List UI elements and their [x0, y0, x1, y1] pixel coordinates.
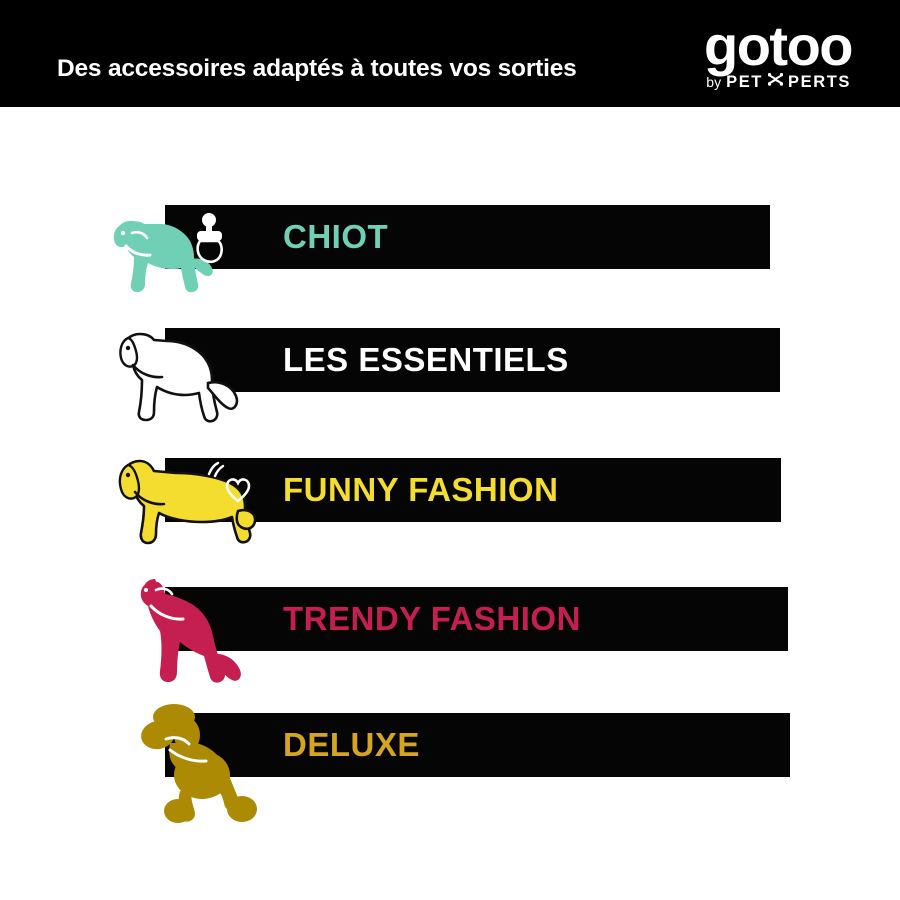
category-row-deluxe[interactable]: DELUXE Sélection premium [0, 703, 900, 833]
category-title: CHIOT [283, 218, 388, 256]
category-title: DELUXE [283, 726, 420, 764]
infographic-page: Des accessoires adaptés à toutes vos sor… [0, 0, 900, 900]
category-row-chiot[interactable]: CHIOT Pour apprendre à marcher en laisse [0, 195, 900, 305]
logo-brand-right: PERTS [788, 73, 851, 92]
header-bar: Des accessoires adaptés à toutes vos sor… [0, 0, 900, 107]
category-title: LES ESSENTIELS [283, 341, 569, 379]
gotoo-logo: gotoo by PET PERTS [662, 18, 852, 92]
category-title: TRENDY FASHION [283, 600, 581, 638]
logo-by-label: by [706, 74, 721, 90]
category-bar: LES ESSENTIELS [165, 328, 780, 392]
logo-brand-left: PET [726, 73, 763, 92]
heart-wag-icon [206, 460, 258, 508]
poodle-silhouette-icon [140, 703, 268, 828]
dog-outline-icon [118, 320, 248, 425]
tall-dog-silhouette-icon [130, 576, 245, 691]
category-row-trendy-fashion[interactable]: TRENDY FASHION Toujours à la mode [0, 577, 900, 695]
logo-tagline: by PET PERTS [706, 73, 851, 92]
pacifier-icon [188, 211, 232, 265]
category-row-funny-fashion[interactable]: FUNNY FASHION Des imprimés colorés [0, 448, 900, 563]
logo-wordmark: gotoo [704, 18, 852, 74]
category-bar: TRENDY FASHION [165, 587, 788, 651]
category-bar: CHIOT [165, 205, 770, 269]
page-title: Des accessoires adaptés à toutes vos sor… [57, 55, 577, 83]
bone-x-icon [768, 73, 783, 87]
category-row-essentiels[interactable]: LES ESSENTIELS Les basiques pour tous le… [0, 318, 900, 433]
category-title: FUNNY FASHION [283, 471, 558, 509]
